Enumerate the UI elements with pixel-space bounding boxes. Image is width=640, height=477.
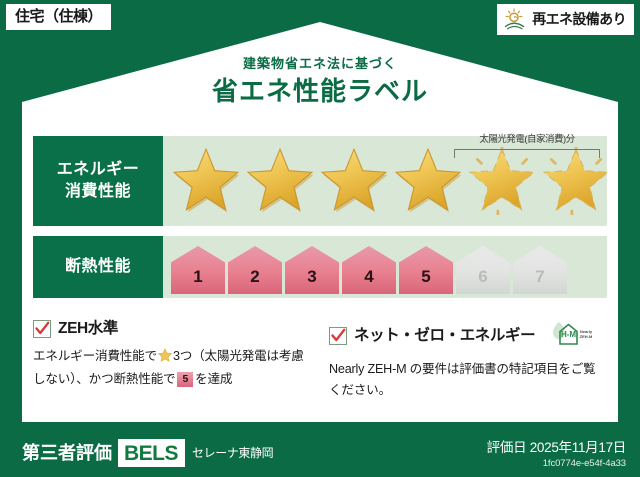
insulation-grade-5: 5 [399, 246, 453, 294]
bels-brand-label: BELS [118, 443, 185, 464]
star-filled [393, 147, 463, 215]
note-net-zero-energy: ネット・ゼロ・エネルギー H-M Nearly ZEH-M Nearly ZEH… [329, 320, 607, 401]
dwelling-type-label: 住宅（住棟） [15, 8, 102, 25]
building-owner-name: セレーナ東静岡 [192, 447, 273, 459]
svg-text:H-M: H-M [561, 330, 576, 339]
bels-footer: 第三者評価 BELS セレーナ東静岡 [16, 439, 273, 467]
insulation-grade-7: 7 [513, 246, 567, 294]
energy-label-line2: 消費性能 [65, 181, 131, 203]
insulation-label-text: 断熱性能 [65, 256, 131, 278]
note-zeh-body: エネルギー消費性能で3つ（太陽光発電は考慮しない）、かつ断熱性能で5を達成 [33, 346, 311, 390]
title-main: 省エネ性能ラベル [0, 77, 640, 106]
grade-number: 4 [364, 268, 373, 294]
insulation-grade-6: 6 [456, 246, 510, 294]
label-title-block: 建築物省エネ法に基づく 省エネ性能ラベル [0, 56, 640, 105]
grade-number: 2 [250, 268, 259, 294]
note-zeh-standard: ZEH水準 エネルギー消費性能で3つ（太陽光発電は考慮しない）、かつ断熱性能で5… [33, 320, 311, 401]
insulation-grade-2: 2 [228, 246, 282, 294]
evaluation-date: 評価日 2025年11月17日 [487, 439, 626, 457]
energy-label-line1: エネルギー [57, 159, 140, 181]
grade-house-shape: 1 [171, 246, 225, 294]
solar-bracket [454, 149, 600, 158]
note-zeh-header: ZEH水準 [33, 320, 311, 338]
insulation-grade-scale: 1234567 [163, 236, 607, 298]
grade-number: 6 [478, 268, 487, 294]
bels-third-party-label: 第三者評価 [16, 439, 118, 467]
star-filled [319, 147, 389, 215]
energy-performance-body: 太陽光発電(自家消費)分 [163, 136, 607, 226]
grade-house-shape: 3 [285, 246, 339, 294]
inline-star-icon [158, 351, 172, 365]
insulation-grade-4: 4 [342, 246, 396, 294]
solar-note-label: 太陽光発電(自家消費)分 [453, 135, 601, 145]
check-icon-zeh [33, 320, 51, 338]
grade-house-shape: 4 [342, 246, 396, 294]
insulation-grade-1: 1 [171, 246, 225, 294]
renewable-equipment-label: 再エネ設備あり [532, 12, 626, 26]
energy-performance-label: エネルギー 消費性能 [33, 136, 163, 226]
grade-house-shape: 7 [513, 246, 567, 294]
note-nze-title: ネット・ゼロ・エネルギー [354, 328, 535, 344]
grade-number: 1 [193, 268, 202, 294]
zeh-m-logo-icon: H-M Nearly ZEH-M [546, 320, 592, 351]
note-nze-header: ネット・ゼロ・エネルギー H-M Nearly ZEH-M [329, 320, 607, 351]
star-filled [171, 147, 241, 215]
svg-text:ZEH-M: ZEH-M [580, 334, 592, 339]
insulation-performance-body: 1234567 [163, 236, 607, 298]
grade-number: 5 [421, 268, 430, 294]
star-filled [245, 147, 315, 215]
grade-number: 3 [307, 268, 316, 294]
energy-label-card: 住宅（住棟） 再エネ設備あり 建築物省エネ法に基づく 省エネ性能ラベル [0, 0, 640, 477]
sun-renewable-icon [503, 8, 527, 30]
renewable-equipment-tag: 再エネ設備あり [497, 4, 634, 35]
energy-performance-row: エネルギー 消費性能 太陽光発電(自家消費)分 [33, 136, 607, 226]
grade-house-shape: 6 [456, 246, 510, 294]
insulation-grade-3: 3 [285, 246, 339, 294]
grade-house-shape: 2 [228, 246, 282, 294]
bels-logo: 第三者評価 BELS [16, 439, 185, 467]
grade-number: 7 [535, 268, 544, 294]
dwelling-type-tag: 住宅（住棟） [6, 4, 111, 30]
grade-house-shape: 5 [399, 246, 453, 294]
title-subtitle: 建築物省エネ法に基づく [0, 56, 640, 72]
notes-section: ZEH水準 エネルギー消費性能で3つ（太陽光発電は考慮しない）、かつ断熱性能で5… [33, 320, 611, 401]
insulation-performance-label: 断熱性能 [33, 236, 163, 298]
note-zeh-title: ZEH水準 [58, 321, 118, 337]
insulation-grade-badge: 5 [177, 372, 193, 387]
note-zeh-text-1: エネルギー消費性能で [33, 349, 157, 363]
evaluation-info: 評価日 2025年11月17日 1fc0774e-e54f-4a33 [487, 439, 626, 469]
note-zeh-text-3: を達成 [195, 372, 232, 386]
evaluation-id: 1fc0774e-e54f-4a33 [487, 458, 626, 469]
insulation-performance-row: 断熱性能 1234567 [33, 236, 607, 298]
note-nze-body: Nearly ZEH-M の要件は評価書の特記項目をご覧ください。 [329, 359, 607, 401]
check-icon-net-zero [329, 327, 347, 345]
